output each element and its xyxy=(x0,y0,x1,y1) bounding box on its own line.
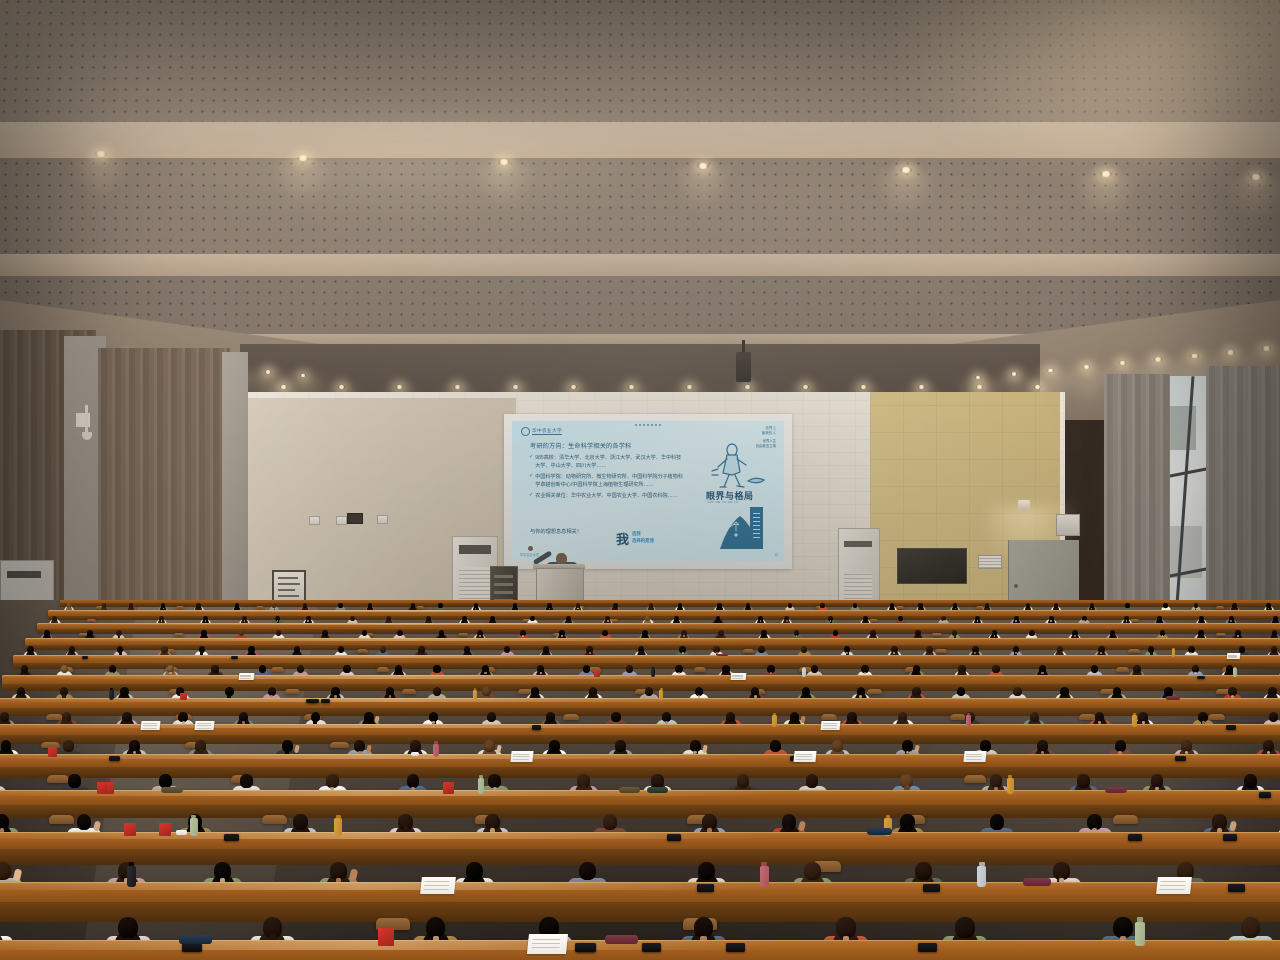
artwork-accent-sub-1: 选我 xyxy=(632,531,641,537)
curtain-left xyxy=(98,348,230,638)
downlight xyxy=(900,167,912,173)
slide-bullet-list: ✓ 985高校：清华大学、北京大学、浙江大学、武汉大学、华中科技大学、中山大学、… xyxy=(529,454,684,502)
downlight xyxy=(744,385,751,389)
downlight xyxy=(512,385,519,389)
slide-bullet: ✓ 985高校：清华大学、北京大学、浙江大学、武汉大学、华中科技大学、中山大学、… xyxy=(529,454,684,471)
wall-fixture-dark xyxy=(347,513,363,524)
downlight xyxy=(1011,372,1017,376)
downlight xyxy=(802,385,809,389)
artwork-big-title-pinyin: YAN JIE YU GE JU xyxy=(707,500,738,504)
smartphone xyxy=(918,943,938,952)
wall-outlet-2 xyxy=(336,516,347,525)
downlight xyxy=(1226,350,1235,355)
university-emblem-icon xyxy=(521,427,530,436)
snack-bag xyxy=(378,928,395,946)
downlight xyxy=(860,385,867,389)
slide-top-marker xyxy=(635,424,661,426)
wall-vent xyxy=(978,555,1002,569)
pillar-left-inner xyxy=(222,352,248,632)
wall-mounted-tv xyxy=(897,548,967,584)
downlight xyxy=(570,385,577,389)
downlight xyxy=(280,385,287,389)
downlight xyxy=(976,385,983,389)
bottle-cap xyxy=(1137,917,1143,922)
slide-corner-label: 华中农业大学 xyxy=(520,552,539,557)
university-logo: 华中农业大学 xyxy=(521,427,562,436)
artwork-figure-icon xyxy=(702,441,774,493)
slide-title: 考研的方向：生命科学相关的各学科 xyxy=(530,441,631,450)
check-icon: ✓ xyxy=(529,454,533,471)
downlight xyxy=(628,385,635,389)
downlight xyxy=(1047,369,1054,373)
downlight xyxy=(396,385,403,389)
wall-outlet-3 xyxy=(377,515,388,524)
artwork-mountain-icon xyxy=(706,507,778,549)
pencil-case xyxy=(179,935,212,944)
slide-bullet: ✓ 中国科学院：动物研究所、微生物研究所、中国科学院分子植物科学卓越创新中心/中… xyxy=(529,473,684,490)
slide-top-right-note: 世界上 最美的人 xyxy=(762,426,776,436)
downlight xyxy=(1250,174,1262,180)
downlight xyxy=(1154,357,1162,361)
smartphone xyxy=(642,943,662,952)
downlight xyxy=(498,159,510,165)
check-icon: ✓ xyxy=(529,492,533,500)
presentation-slide: 华中农业大学 世界上 最美的人 考研的方向：生命科学相关的各学科 ✓ 985高校… xyxy=(512,421,784,561)
smartphone xyxy=(575,943,595,952)
downlight xyxy=(1034,385,1041,389)
downlight xyxy=(1190,354,1198,359)
slide-footer-line: 与你的理想息息相关！ xyxy=(530,528,582,535)
slide-bullet-text: 农业相关单位：华中农业大学、中国农业大学、中国农科院…… xyxy=(535,492,678,500)
downlight xyxy=(686,385,693,389)
downlight xyxy=(1083,365,1090,369)
wall-sconce xyxy=(1018,500,1030,510)
downlight xyxy=(918,385,925,389)
university-logo-text: 华中农业大学 xyxy=(532,428,562,436)
pencil-case xyxy=(605,935,638,944)
downlight xyxy=(1262,346,1271,351)
ceiling-light-glow-secondary xyxy=(120,100,680,220)
wall-outlet-1 xyxy=(309,516,320,525)
downlight xyxy=(338,385,345,389)
wall-control-panel[interactable] xyxy=(1056,514,1080,536)
slide-bullet: ✓ 农业相关单位：华中农业大学、中国农业大学、中国农科院…… xyxy=(529,492,684,500)
slide-bullet-text: 985高校：清华大学、北京大学、浙江大学、武汉大学、华中科技大学、中山大学、四川… xyxy=(535,454,684,471)
artwork-accent-word: 我 xyxy=(616,533,629,546)
ceiling-light-glow xyxy=(880,0,1280,190)
downlight xyxy=(697,163,709,169)
downlight xyxy=(1100,171,1112,177)
downlight xyxy=(297,155,309,161)
artwork-accent-sub-2: 选择的是我 xyxy=(632,538,654,544)
check-icon: ✓ xyxy=(529,473,533,490)
smartphone xyxy=(182,943,202,952)
downlight xyxy=(95,151,107,157)
camera-mount-arm xyxy=(85,405,88,433)
door-handle[interactable] xyxy=(1014,584,1018,588)
projector xyxy=(736,352,751,382)
paper-handout xyxy=(527,934,568,954)
downlight xyxy=(265,370,271,374)
slide-page-number: 18 xyxy=(774,553,778,557)
slide-artwork: 世界人生 自由敢言立场 眼界与格局 YAN JIE YU GE JU xyxy=(706,437,778,549)
lecture-hall-photo: 华中农业大学 世界上 最美的人 考研的方向：生命科学相关的各学科 ✓ 985高校… xyxy=(0,0,1280,960)
projection-screen: 华中农业大学 世界上 最美的人 考研的方向：生命科学相关的各学科 ✓ 985高校… xyxy=(504,414,792,569)
water-bottle xyxy=(1135,922,1146,946)
smartphone xyxy=(726,943,746,952)
speaker-hand xyxy=(528,546,533,551)
slide-bullet-text: 中国科学院：动物研究所、微生物研究所、中国科学院分子植物科学卓越创新中心/中国科… xyxy=(535,473,684,490)
downlight xyxy=(454,385,461,389)
audience-seating-area xyxy=(0,600,1280,960)
desk-objects xyxy=(0,600,1280,960)
